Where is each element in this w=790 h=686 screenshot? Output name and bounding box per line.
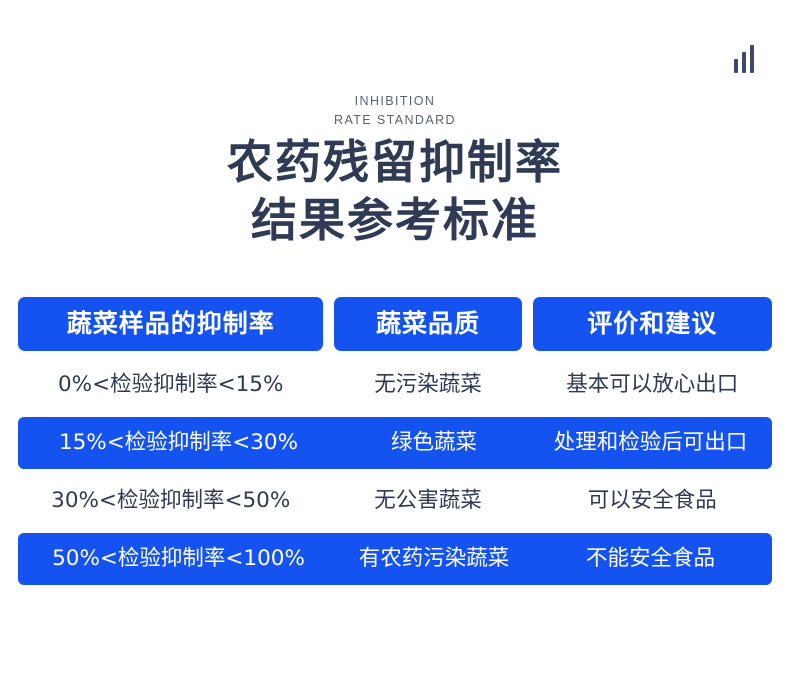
poster-page: INHIBITION RATE STANDARD 农药残留抑制率 结果参考标准 … (0, 0, 790, 686)
table-cell-rate: 50%<检验抑制率<100% (18, 533, 339, 585)
table-cell-quality: 绿色蔬菜 (339, 417, 529, 469)
eyebrow-text: INHIBITION RATE STANDARD (0, 92, 790, 130)
table-cell-advice: 基本可以放心出口 (533, 359, 772, 411)
table-cell-advice: 可以安全食品 (533, 475, 772, 527)
table-row: 30%<检验抑制率<50% 无公害蔬菜 可以安全食品 (18, 475, 772, 527)
table-cell-quality: 有农药污染蔬菜 (339, 533, 529, 585)
table-row: 50%<检验抑制率<100% 有农药污染蔬菜 不能安全食品 (18, 533, 772, 585)
table-cell-rate: 15%<检验抑制率<30% (18, 417, 339, 469)
bar-chart-bar-1 (734, 59, 738, 73)
bar-chart-mark-icon (734, 45, 754, 73)
table-cell-quality: 无污染蔬菜 (334, 359, 521, 411)
table-header-cell-1: 蔬菜样品的抑制率 (18, 297, 323, 351)
table-header-cell-3: 评价和建议 (533, 297, 772, 351)
page-title: 农药残留抑制率 结果参考标准 (0, 133, 790, 249)
table-header-cell-2: 蔬菜品质 (334, 297, 521, 351)
table-cell-rate: 30%<检验抑制率<50% (18, 475, 323, 527)
bar-chart-bar-2 (742, 52, 746, 73)
eyebrow-line-2: RATE STANDARD (0, 111, 790, 130)
table-cell-advice: 不能安全食品 (529, 533, 772, 585)
table-row: 15%<检验抑制率<30% 绿色蔬菜 处理和检验后可出口 (18, 417, 772, 469)
table-row: 0%<检验抑制率<15% 无污染蔬菜 基本可以放心出口 (18, 359, 772, 411)
standard-table: 蔬菜样品的抑制率 蔬菜品质 评价和建议 0%<检验抑制率<15% 无污染蔬菜 基… (18, 297, 772, 591)
page-title-line-1: 农药残留抑制率 (0, 133, 790, 191)
eyebrow-line-1: INHIBITION (0, 92, 790, 111)
table-header-row: 蔬菜样品的抑制率 蔬菜品质 评价和建议 (18, 297, 772, 351)
page-title-line-2: 结果参考标准 (0, 191, 790, 249)
table-cell-advice: 处理和检验后可出口 (529, 417, 772, 469)
table-cell-quality: 无公害蔬菜 (334, 475, 521, 527)
table-cell-rate: 0%<检验抑制率<15% (18, 359, 323, 411)
bar-chart-bar-3 (750, 45, 754, 73)
